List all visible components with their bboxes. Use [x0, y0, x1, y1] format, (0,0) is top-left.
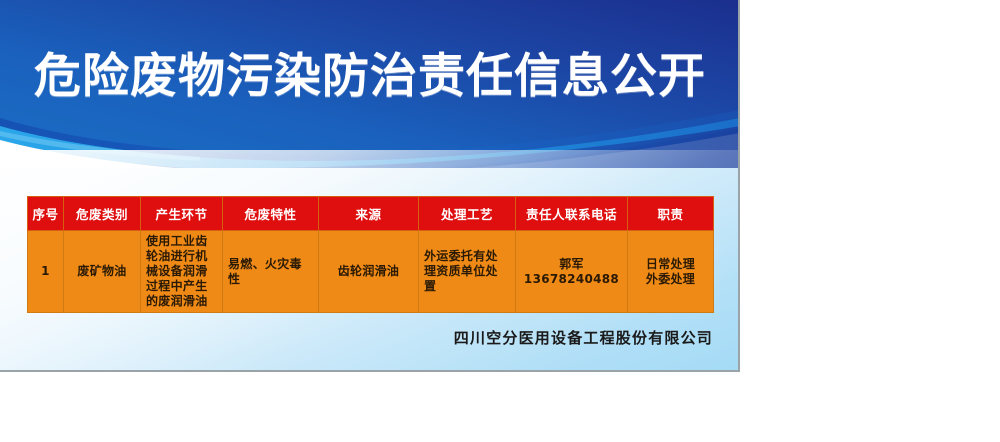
cell-category: 废矿物油 [64, 231, 141, 313]
cell-process: 外运委托有处理资质单位处置 [419, 231, 516, 313]
contact-name: 郭军 [521, 257, 622, 272]
cell-property: 易燃、火灾毒性 [223, 231, 319, 313]
column-header-property: 危废特性 [223, 197, 319, 231]
poster-banner: 危险废物污染防治责任信息公开 [0, 0, 740, 168]
column-header-stage: 产生环节 [141, 197, 223, 231]
cell-contact: 郭军 13678240488 [516, 231, 628, 313]
company-name: 四川空分医用设备工程股份有限公司 [0, 327, 713, 348]
page-title: 危险废物污染防治责任信息公开 [0, 47, 740, 107]
table-row: 1 废矿物油 使用工业齿轮油进行机械设备润滑过程中产生的废润滑油 易燃、火灾毒性… [28, 231, 714, 313]
cell-serial: 1 [28, 231, 64, 313]
information-poster: 危险废物污染防治责任信息公开 序号 危废类别 产生环节 危废特性 来源 处理工艺… [0, 0, 740, 372]
column-header-duty: 职责 [628, 197, 714, 231]
column-header-serial: 序号 [28, 197, 64, 231]
cell-source: 齿轮润滑油 [319, 231, 419, 313]
column-header-source: 来源 [319, 197, 419, 231]
cell-duty: 日常处理 外委处理 [628, 231, 714, 313]
duty-line-2: 外委处理 [633, 272, 708, 287]
column-header-category: 危废类别 [64, 197, 141, 231]
hazardous-waste-table: 序号 危废类别 产生环节 危废特性 来源 处理工艺 责任人联系电话 职责 1 废… [27, 196, 714, 313]
cell-stage: 使用工业齿轮油进行机械设备润滑过程中产生的废润滑油 [141, 231, 223, 313]
table-header-row: 序号 危废类别 产生环节 危废特性 来源 处理工艺 责任人联系电话 职责 [28, 197, 714, 231]
column-header-phone: 责任人联系电话 [516, 197, 628, 231]
contact-phone: 13678240488 [521, 272, 622, 287]
duty-line-1: 日常处理 [633, 257, 708, 272]
column-header-process: 处理工艺 [419, 197, 516, 231]
